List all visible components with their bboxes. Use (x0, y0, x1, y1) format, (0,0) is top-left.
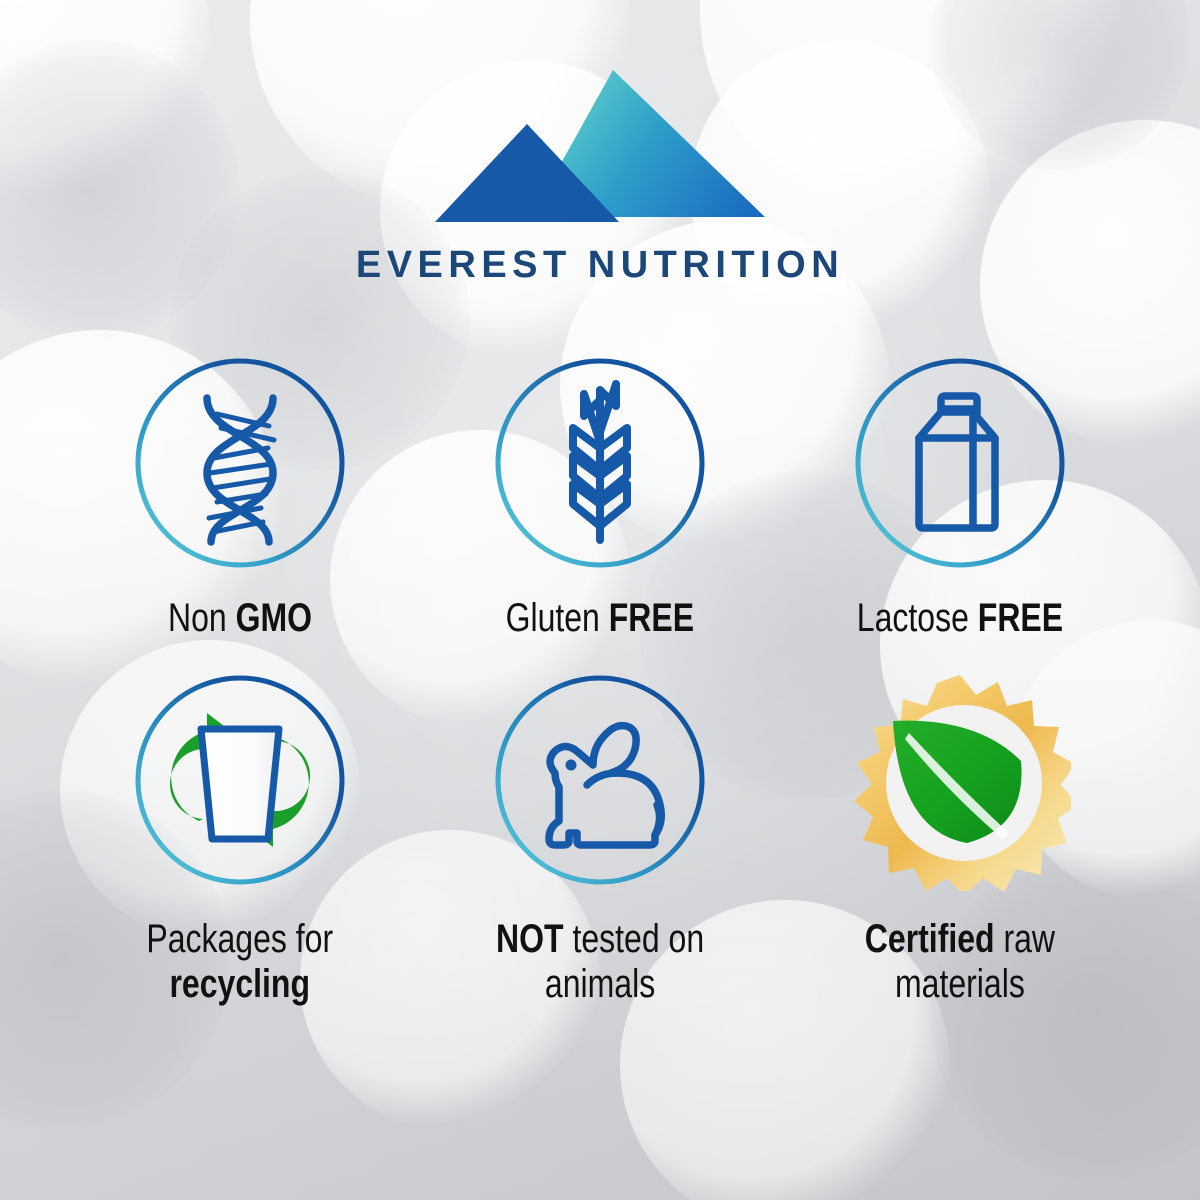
mountain-peaks-icon (435, 62, 765, 232)
badge-icon-non-gmo (129, 352, 351, 574)
badge-icon-recycling (129, 669, 351, 891)
brand-logo: EVEREST NUTRITION (0, 62, 1200, 284)
milk-carton-icon (919, 396, 995, 528)
wheat-stalk-icon (573, 384, 627, 540)
rabbit-eye-icon (566, 759, 577, 770)
cup-icon (201, 729, 279, 839)
badge-icon-lactose-free (849, 352, 1071, 574)
badge-label-lactose-free: Lactose FREE (857, 596, 1063, 641)
badge-label-non-gmo: Non GMO (168, 596, 312, 641)
brand-wordmark: EVEREST NUTRITION (0, 246, 1200, 284)
badge-label-gluten-free: Gluten FREE (506, 596, 695, 641)
certification-badge-grid: Non GMO (60, 352, 1140, 1006)
badge-label-recycling: Packages forrecycling (147, 917, 334, 1007)
badge-non-gmo[interactable]: Non GMO (60, 352, 420, 641)
badge-icon-gluten-free (489, 352, 711, 574)
rabbit-icon (549, 725, 661, 844)
badge-recycling[interactable]: Packages forrecycling (60, 669, 420, 1007)
badge-icon-not-tested-on-animals (489, 669, 711, 891)
badge-gluten-free[interactable]: Gluten FREE (420, 352, 780, 641)
poster-canvas: EVEREST NUTRITION (0, 0, 1200, 1200)
badge-icon-certified-raw-materials (849, 669, 1071, 891)
badge-label-certified-raw-materials: Certified rawmaterials (865, 917, 1055, 1007)
badge-not-tested-on-animals[interactable]: NOT tested onanimals (420, 669, 780, 1007)
badge-label-not-tested-on-animals: NOT tested onanimals (496, 917, 704, 1007)
badge-certified-raw-materials[interactable]: Certified rawmaterials (780, 669, 1140, 1007)
badge-lactose-free[interactable]: Lactose FREE (780, 352, 1140, 641)
